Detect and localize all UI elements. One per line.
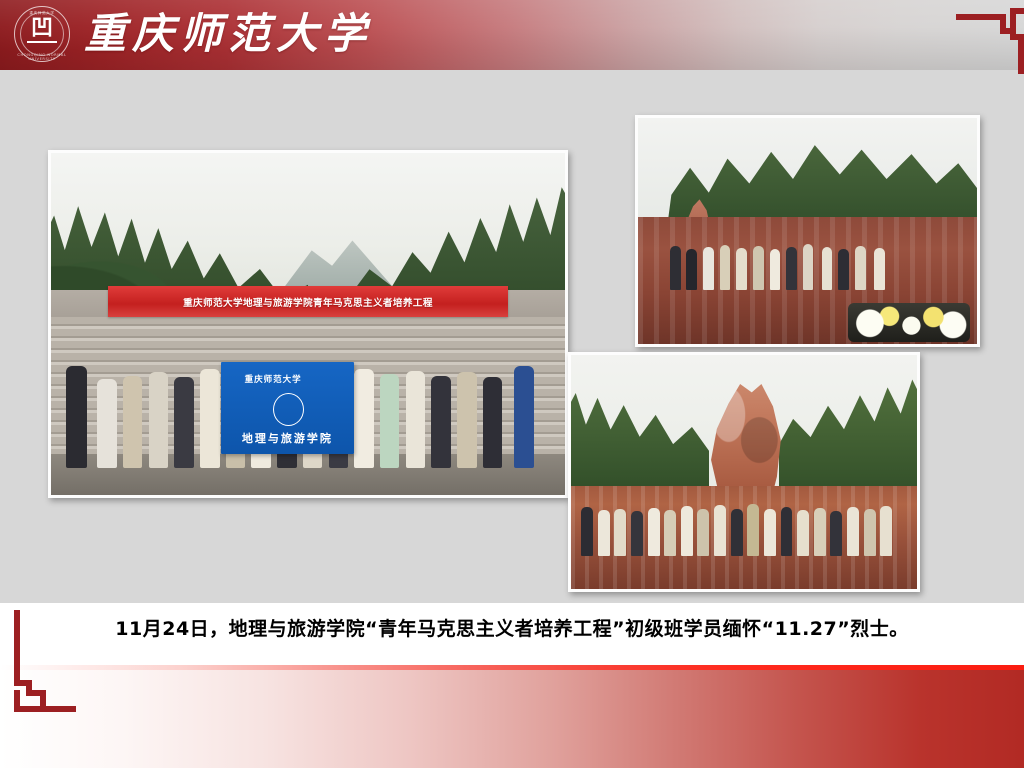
p1-flag-top-text: 重庆师范大学 [245, 373, 302, 385]
p2-student-line [665, 231, 902, 290]
p3-student-semicircle [578, 486, 910, 556]
slide-caption: 11月24日，地理与旅游学院“青年马克思主义者培养工程”初级班学员缅怀“11.2… [0, 614, 1024, 644]
logo-center-glyph: 凹 [14, 17, 70, 39]
p1-college-flag: 重庆师范大学 地理与旅游学院 [221, 362, 355, 454]
p1-flag-bottom-text: 地理与旅游学院 [221, 430, 355, 446]
photo-tr-scene [638, 118, 977, 344]
slide-root: 重庆师范大学 凹 CHONGQING NORMAL UNIVERSITY 重庆师… [0, 0, 1024, 768]
footer-accent-line [0, 665, 1024, 670]
footer-banner [0, 665, 1024, 768]
header-banner: 重庆师范大学 凹 CHONGQING NORMAL UNIVERSITY 重庆师… [0, 0, 1024, 70]
logo-micro-text-top: 重庆师范大学 [14, 11, 70, 15]
photo-br-scene [571, 355, 917, 589]
logo-micro-text-bottom: CHONGQING NORMAL UNIVERSITY [14, 53, 70, 61]
photo-group-on-steps: 重庆师范大学地理与旅游学院青年马克思主义者培养工程 [48, 150, 568, 498]
photo-plaza-memorial [635, 115, 980, 347]
p2-flower-wreath [848, 303, 970, 341]
photo-main-scene: 重庆师范大学地理与旅游学院青年马克思主义者培养工程 [51, 153, 565, 495]
university-logo-icon: 重庆师范大学 凹 CHONGQING NORMAL UNIVERSITY [14, 6, 72, 64]
photo-martyrs-sculpture [568, 352, 920, 592]
corner-ornament-bottom-left-icon [14, 610, 76, 718]
p1-flag-emblem-icon [273, 393, 304, 426]
corner-ornament-top-right-icon [956, 8, 1024, 74]
logo-book-shape [27, 41, 57, 48]
university-name-title: 重庆师范大学 [84, 5, 372, 63]
